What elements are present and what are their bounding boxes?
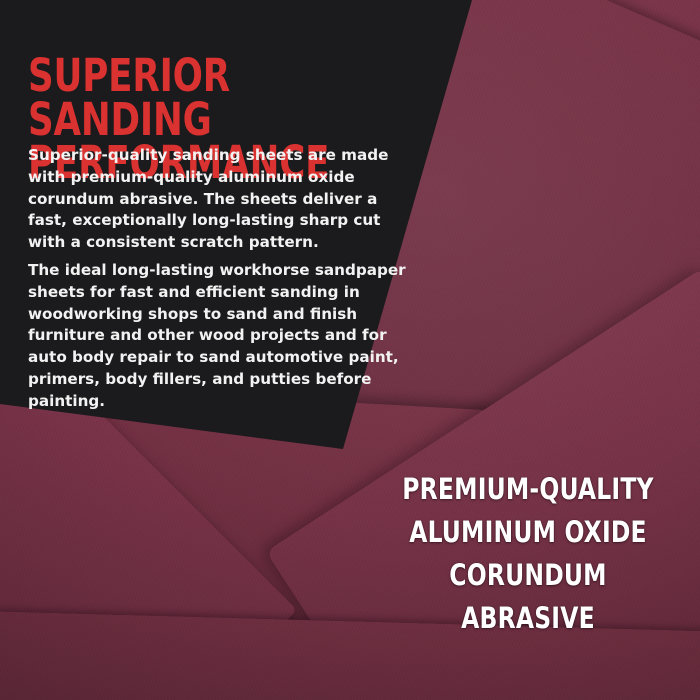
description-paragraph-2: The ideal long-lasting workhorse sandpap… <box>28 260 410 412</box>
product-marketing-graphic: SUPERIOR SANDING PERFORMANCE Superior-qu… <box>0 0 700 700</box>
feature-caption: PREMIUM-QUALITY ALUMINUM OXIDE CORUNDUM … <box>393 468 663 640</box>
page-title-line-1: SUPERIOR SANDING <box>28 49 230 146</box>
description-paragraph-1: Superior-quality sanding sheets are made… <box>28 145 410 254</box>
feature-caption-line-3: CORUNDUM ABRASIVE <box>393 554 663 640</box>
feature-caption-line-1: PREMIUM-QUALITY <box>393 468 663 511</box>
feature-caption-line-2: ALUMINUM OXIDE <box>393 511 663 554</box>
